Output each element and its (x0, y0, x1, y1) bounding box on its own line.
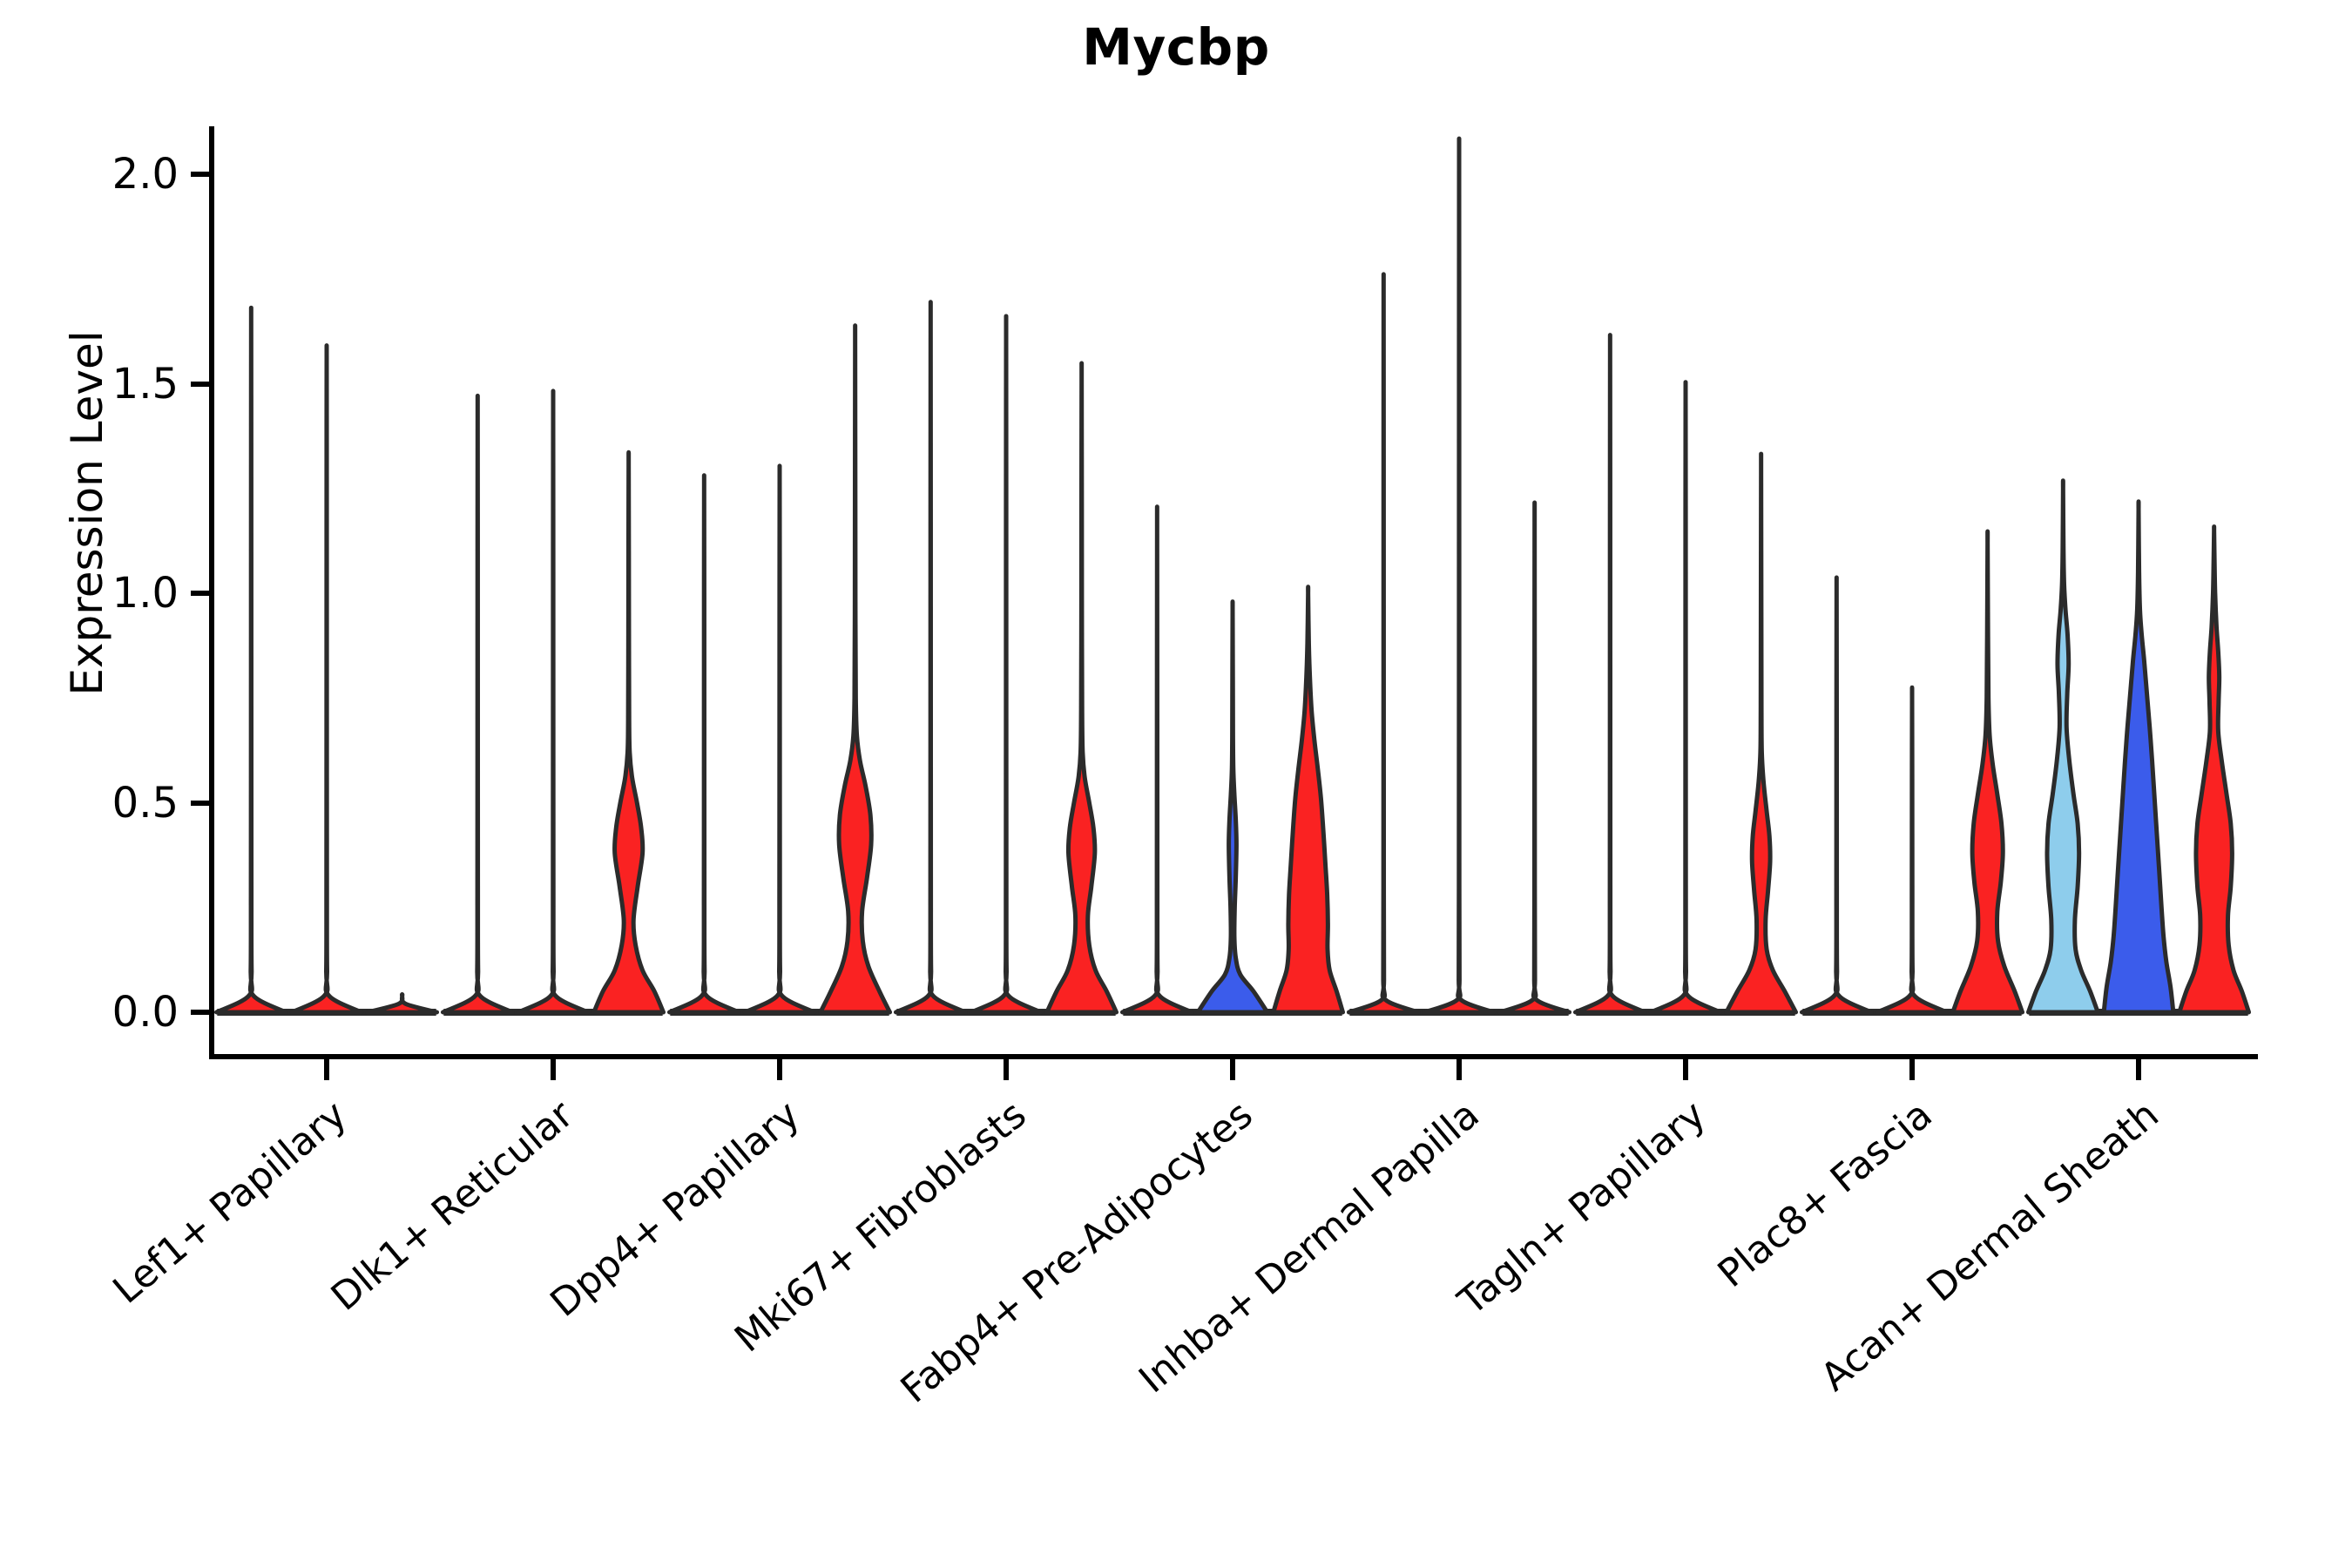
x-tick-mark-1 (551, 1059, 556, 1080)
violin-shape (2028, 481, 2098, 1012)
violin-shape (1424, 139, 1494, 1012)
violin-shape (2104, 502, 2173, 1012)
violin-shape (669, 476, 739, 1012)
violin-plot-figure: Mycbp 0.00.51.01.52.0Lef1+ PapillaryDlk1… (0, 0, 2352, 1568)
violin-shape (368, 995, 437, 1012)
y-tick-mark-0 (191, 1010, 210, 1015)
violin-shape (1953, 531, 2023, 1012)
y-tick-mark-4 (191, 172, 210, 177)
x-tick-mark-5 (1456, 1059, 1462, 1080)
violin-shape (1801, 578, 1871, 1012)
violin-shape (443, 395, 512, 1012)
x-tick-mark-3 (1004, 1059, 1009, 1080)
violin-shape (971, 316, 1041, 1012)
y-tick-mark-3 (191, 382, 210, 387)
violin-shape (1122, 507, 1192, 1012)
violin-shape (1500, 503, 1570, 1012)
violin-shape (1274, 587, 1343, 1012)
y-tick-mark-2 (191, 591, 210, 596)
x-tick-mark-8 (2136, 1059, 2141, 1080)
x-tick-mark-4 (1230, 1059, 1235, 1080)
violin-shape (1727, 454, 1796, 1012)
y-tick-label-0: 0.0 (0, 988, 179, 1037)
violin-shape (1348, 274, 1418, 1012)
violin-shape (594, 452, 664, 1012)
y-tick-mark-1 (191, 801, 210, 806)
violin-shape (2180, 527, 2249, 1012)
violin-shape (745, 466, 814, 1012)
x-tick-mark-6 (1683, 1059, 1688, 1080)
violin-shape (821, 326, 890, 1012)
x-tick-mark-2 (777, 1059, 782, 1080)
plot-area: 0.00.51.01.52.0Lef1+ PapillaryDlk1+ Reti… (0, 0, 2352, 1568)
violin-shape (1575, 335, 1645, 1012)
y-axis-label: Expression Level (62, 165, 112, 862)
violin-shape (1198, 602, 1267, 1012)
x-tick-mark-0 (324, 1059, 329, 1080)
violin-shape (292, 346, 362, 1012)
violin-shape (518, 391, 588, 1012)
violin-shape (1651, 382, 1720, 1012)
violin-shape (1877, 687, 1947, 1012)
violin-shape (896, 302, 965, 1012)
violin-shape (1047, 363, 1117, 1012)
violin-shape (216, 308, 286, 1012)
x-tick-mark-7 (1909, 1059, 1915, 1080)
